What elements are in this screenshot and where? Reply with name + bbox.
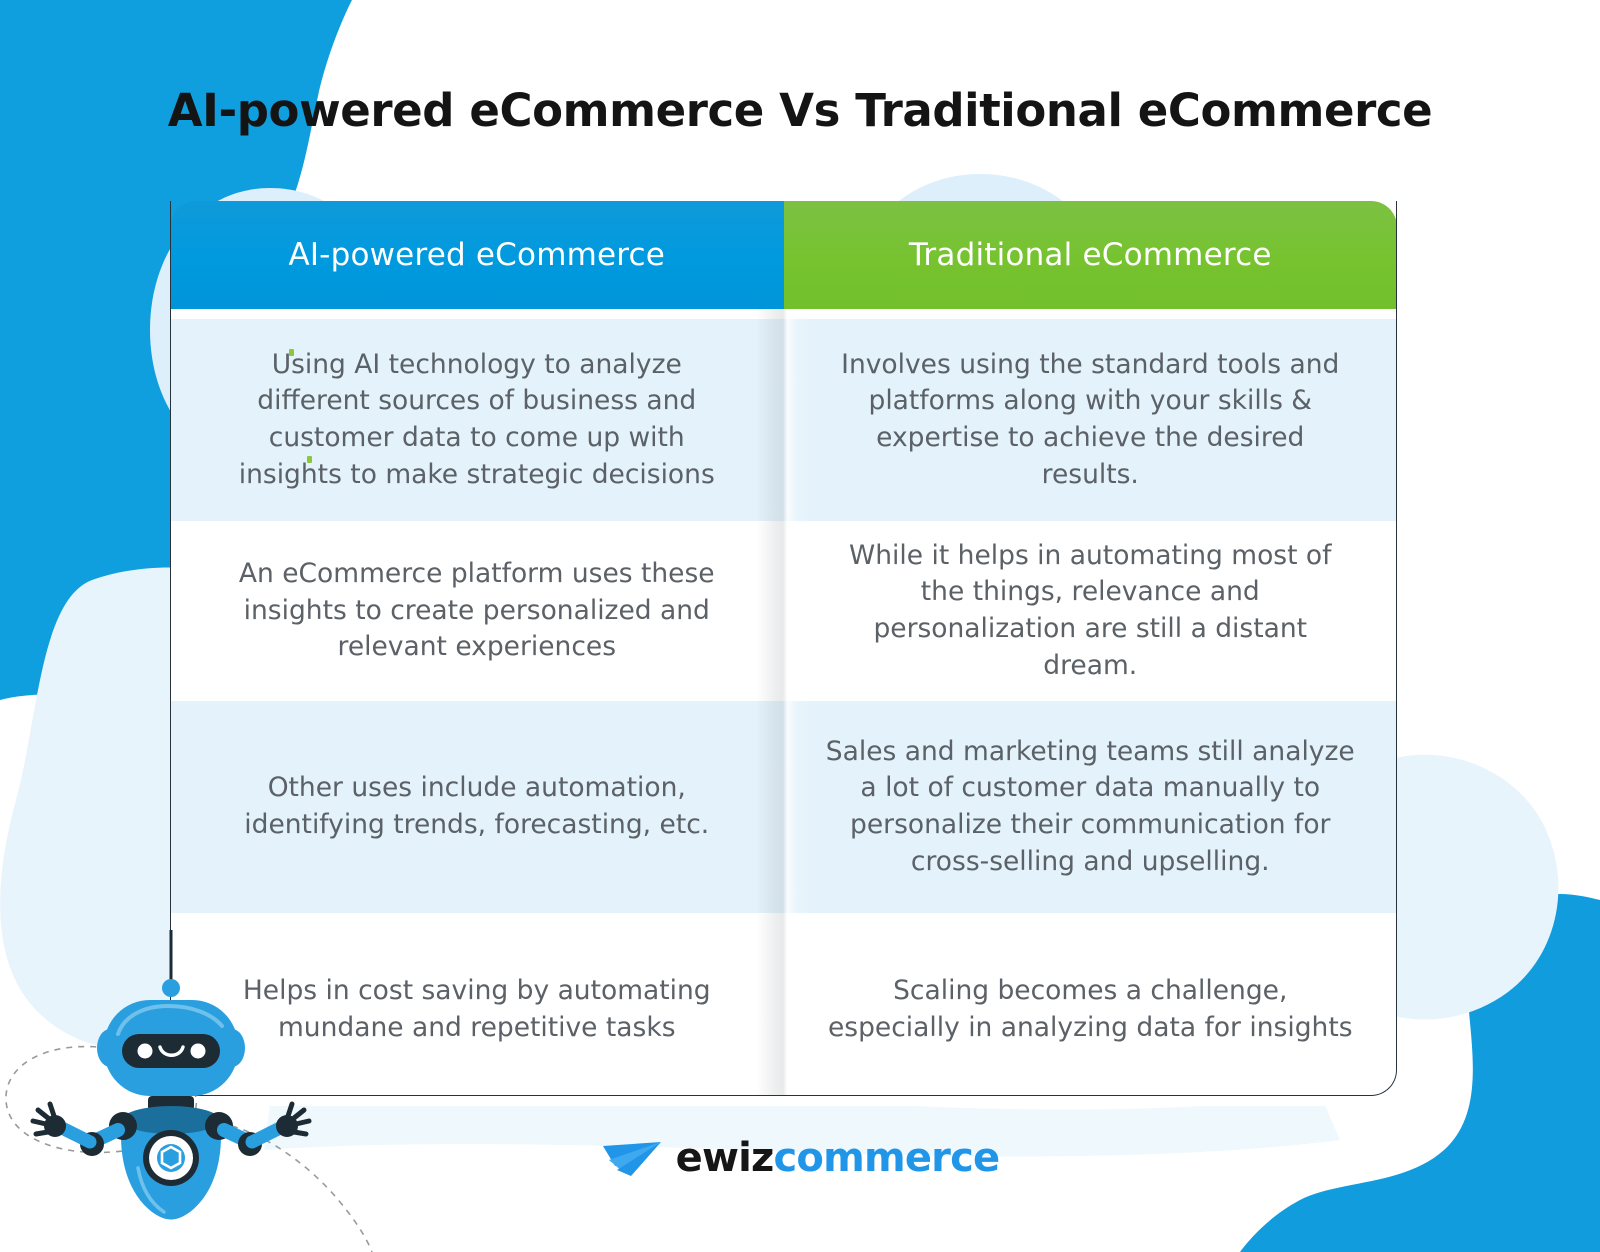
ewiz-swoosh-icon — [601, 1136, 663, 1180]
column-header-ai-powered: AI-powered eCommerce — [170, 201, 784, 309]
column-header-traditional-label: Traditional eCommerce — [909, 237, 1272, 273]
cell-ai-3: Other uses include automation, identifyi… — [170, 701, 784, 913]
brand-logo: ewizcommerce — [0, 1136, 1600, 1180]
table-row: An eCommerce platform uses these insight… — [170, 521, 1397, 701]
robot-mascot — [0, 930, 380, 1252]
robot-hand-left-icon — [33, 1104, 66, 1137]
brand-logo-secondary: commerce — [774, 1135, 1000, 1181]
table-row: Using AI technology to analyze different… — [170, 319, 1397, 521]
page-title: AI-powered eCommerce Vs Traditional eCom… — [0, 84, 1600, 137]
robot-eye-right-icon — [191, 1044, 206, 1059]
column-header-ai-powered-label: AI-powered eCommerce — [288, 237, 665, 273]
accent-dot-icon — [307, 456, 312, 463]
cell-traditional-2: While it helps in automating most of the… — [784, 521, 1398, 701]
brand-logo-primary: ewiz — [676, 1135, 774, 1181]
robot-body-top-icon — [122, 1106, 220, 1134]
cell-traditional-4: Scaling becomes a challenge, especially … — [784, 913, 1398, 1106]
robot-hand-right-icon — [276, 1104, 309, 1137]
column-header-traditional: Traditional eCommerce — [784, 201, 1398, 309]
cell-ai-2: An eCommerce platform uses these insight… — [170, 521, 784, 701]
cell-traditional-1: Involves using the standard tools and pl… — [784, 319, 1398, 521]
infographic-canvas: AI-powered eCommerce Vs Traditional eCom… — [0, 0, 1600, 1252]
table-header-row: AI-powered eCommerce Traditional eCommer… — [170, 201, 1397, 309]
brand-logo-text: ewizcommerce — [676, 1138, 1000, 1178]
accent-dot-icon — [289, 349, 294, 356]
cell-ai-1: Using AI technology to analyze different… — [170, 319, 784, 521]
cell-traditional-3: Sales and marketing teams still analyze … — [784, 701, 1398, 913]
robot-eye-left-icon — [138, 1044, 153, 1059]
header-body-gap — [170, 309, 1397, 319]
table-row: Other uses include automation, identifyi… — [170, 701, 1397, 913]
antenna-ball-icon — [162, 979, 180, 997]
